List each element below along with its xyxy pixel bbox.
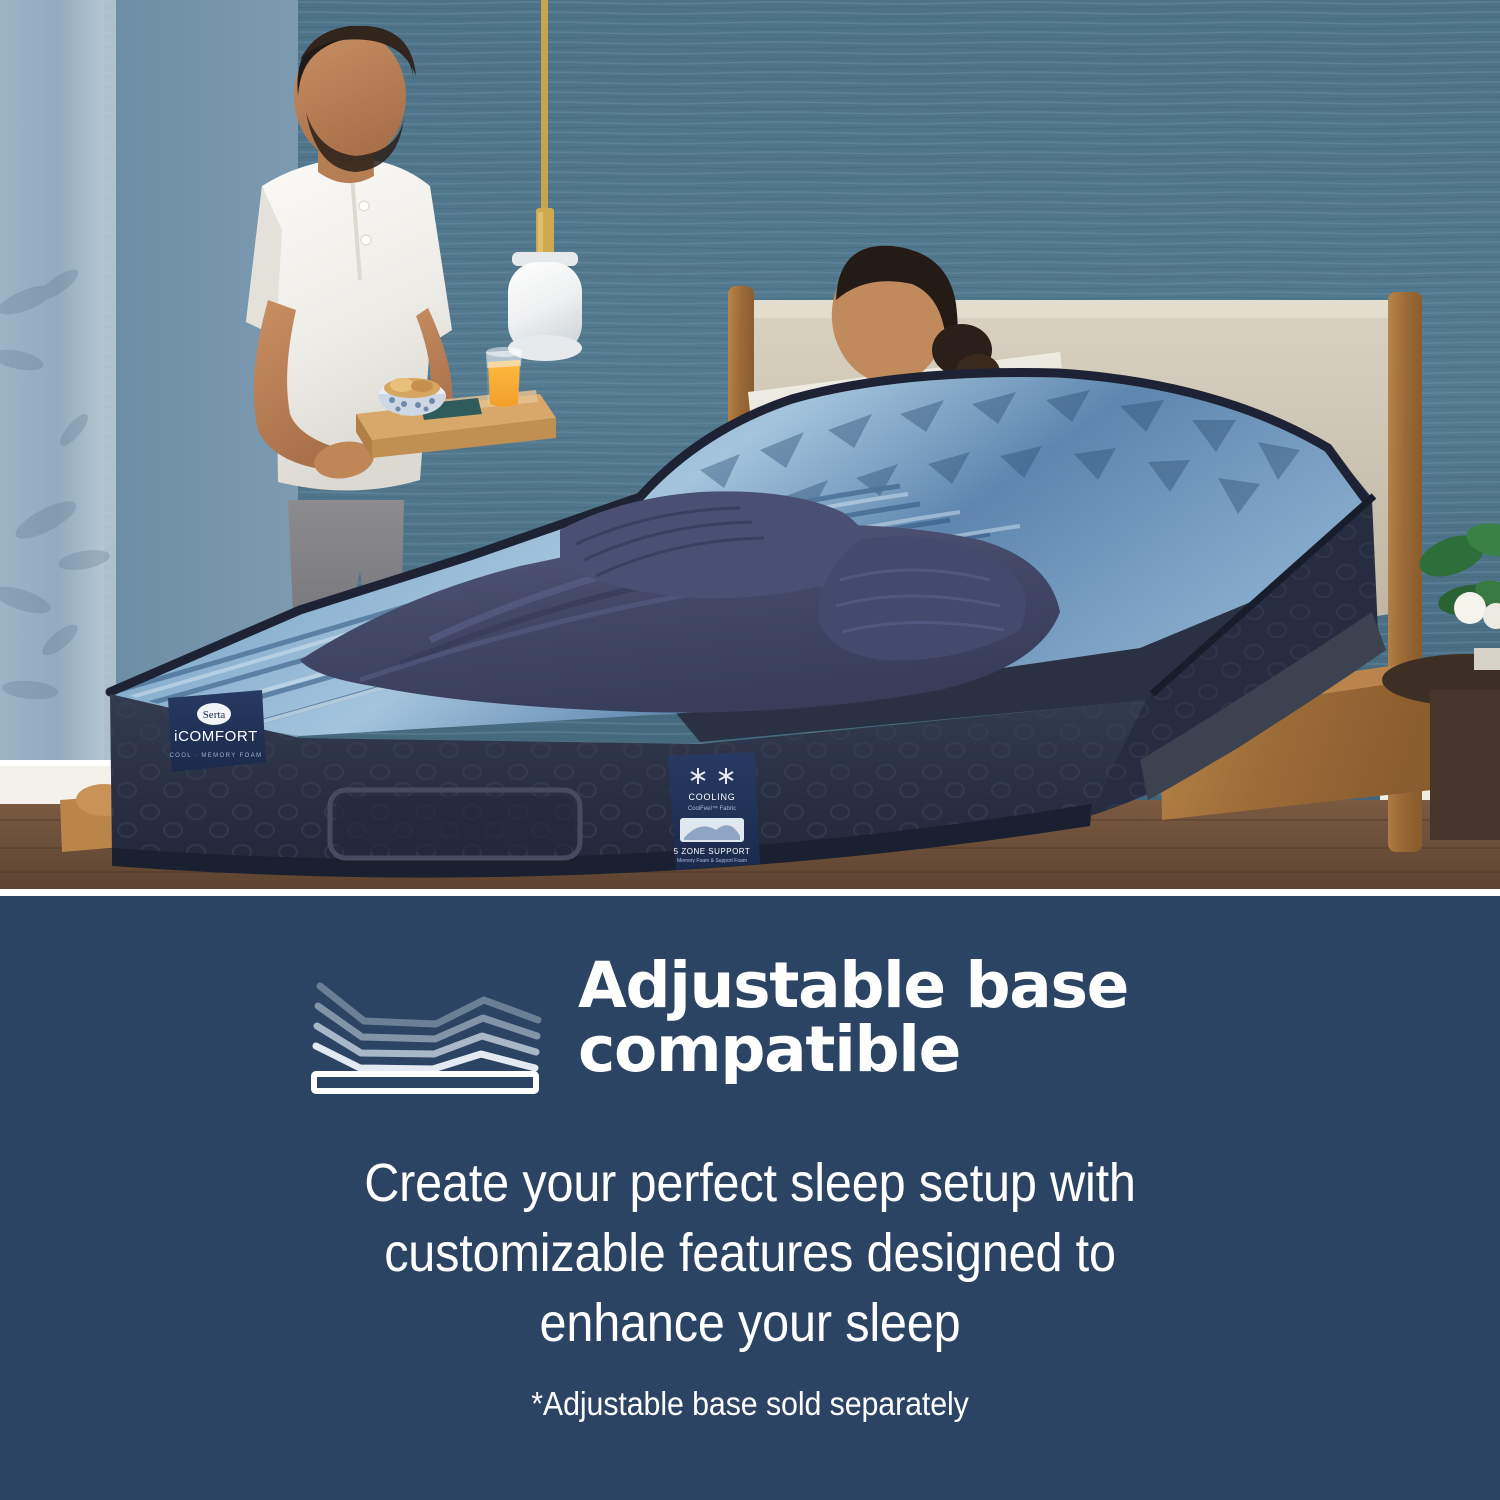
promo-footnote: *Adjustable base sold separately bbox=[60, 1385, 1440, 1423]
promo-subcopy: Create your perfect sleep setup with cus… bbox=[75, 1148, 1425, 1359]
brand-tag: Serta iCOMFORT COOL · MEMORY FOAM bbox=[168, 690, 266, 772]
svg-text:iCOMFORT: iCOMFORT bbox=[174, 728, 258, 745]
svg-text:5 ZONE SUPPORT: 5 ZONE SUPPORT bbox=[674, 847, 751, 856]
svg-text:Serta: Serta bbox=[203, 709, 226, 721]
panel-divider bbox=[0, 889, 1500, 896]
bedroom-scene-illustration: Serta iCOMFORT COOL · MEMORY FOAM bbox=[0, 0, 1500, 889]
headline-row: Adjustable base compatible bbox=[0, 954, 1500, 1094]
svg-text:Memory Foam & Support Foam: Memory Foam & Support Foam bbox=[677, 858, 747, 864]
feature-tag: COOLING CoolFeel™ Fabric 5 ZONE SUPPORT … bbox=[668, 752, 760, 870]
adjustable-base-icon-glyph bbox=[302, 974, 550, 1094]
subcopy-line-3: enhance your sleep bbox=[540, 1293, 961, 1353]
svg-text:CoolFeel™ Fabric: CoolFeel™ Fabric bbox=[688, 805, 736, 812]
headline-line-2: compatible bbox=[578, 1013, 960, 1086]
page-title: Adjustable base compatible bbox=[578, 954, 1198, 1083]
headline-line-1: Adjustable base bbox=[578, 949, 1128, 1022]
adjustable-base-icon bbox=[302, 974, 550, 1094]
subcopy-line-1: Create your perfect sleep setup with bbox=[364, 1153, 1136, 1213]
lifestyle-photo: Serta iCOMFORT COOL · MEMORY FOAM bbox=[0, 0, 1500, 889]
subcopy-line-2: customizable features designed to bbox=[384, 1223, 1116, 1283]
svg-text:COOLING: COOLING bbox=[688, 792, 735, 802]
svg-text:COOL · MEMORY FOAM: COOL · MEMORY FOAM bbox=[169, 753, 262, 759]
promo-panel: Adjustable base compatible Create your p… bbox=[0, 896, 1500, 1500]
promo-banner: Serta iCOMFORT COOL · MEMORY FOAM bbox=[0, 0, 1500, 1500]
